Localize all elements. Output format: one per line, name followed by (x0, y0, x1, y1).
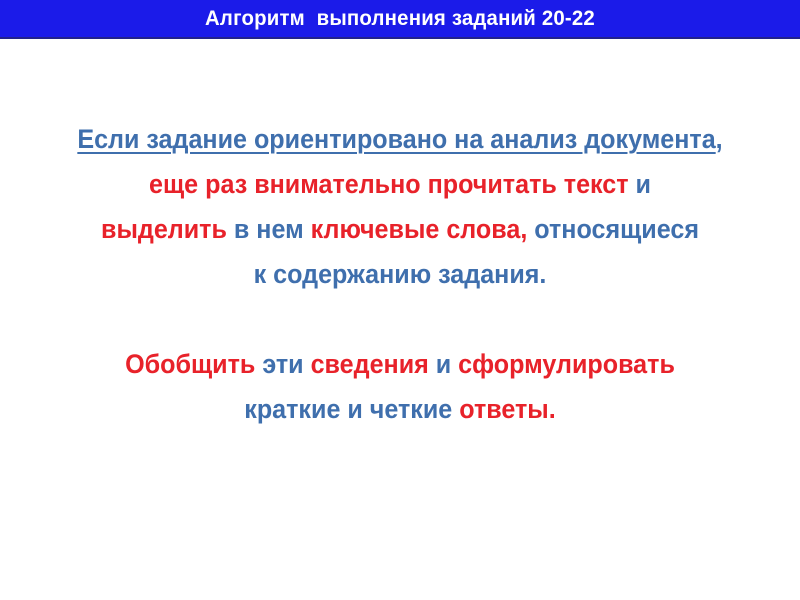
line-2: еще раз внимательно прочитать текст и (28, 162, 772, 207)
line-3-segment-4: относящиеся (527, 214, 699, 244)
line-1-segment-2: , (716, 124, 723, 154)
line-5-segment-1: Обобщить (125, 349, 255, 379)
line-3: выделить в нем ключевые слова, относящие… (28, 207, 772, 252)
slide-body: Если задание ориентировано на анализ док… (0, 39, 800, 600)
line-3-segment-1: выделить (101, 214, 227, 244)
slide-title: Алгоритм выполнения заданий 20-22 (205, 8, 595, 29)
slide-content-block: Если задание ориентировано на анализ док… (0, 117, 800, 432)
line-4: к содержанию задания. (28, 252, 772, 297)
line-6: краткие и четкие ответы. (28, 387, 772, 432)
line-1: Если задание ориентировано на анализ док… (28, 117, 772, 162)
line-blank (28, 297, 772, 342)
line-1-segment-1: Если задание ориентировано на анализ док… (77, 124, 715, 154)
line-5-segment-3: сведения (311, 349, 429, 379)
line-5-segment-5: сформулировать (458, 349, 675, 379)
line-5: Обобщить эти сведения и сформулировать (28, 342, 772, 387)
line-2-segment-1: еще раз внимательно прочитать текст (149, 169, 629, 199)
line-3-segment-2: в нем (227, 214, 311, 244)
line-6-segment-1: краткие и четкие (244, 394, 459, 424)
line-3-segment-3: ключевые слова, (311, 214, 528, 244)
slide-header-bar: Алгоритм выполнения заданий 20-22 (0, 0, 800, 39)
line-4-segment-1: к содержанию задания. (254, 259, 547, 289)
line-6-segment-2: ответы. (459, 394, 555, 424)
line-2-segment-2: и (629, 169, 651, 199)
line-5-segment-2: эти (255, 349, 310, 379)
line-5-segment-4: и (429, 349, 458, 379)
